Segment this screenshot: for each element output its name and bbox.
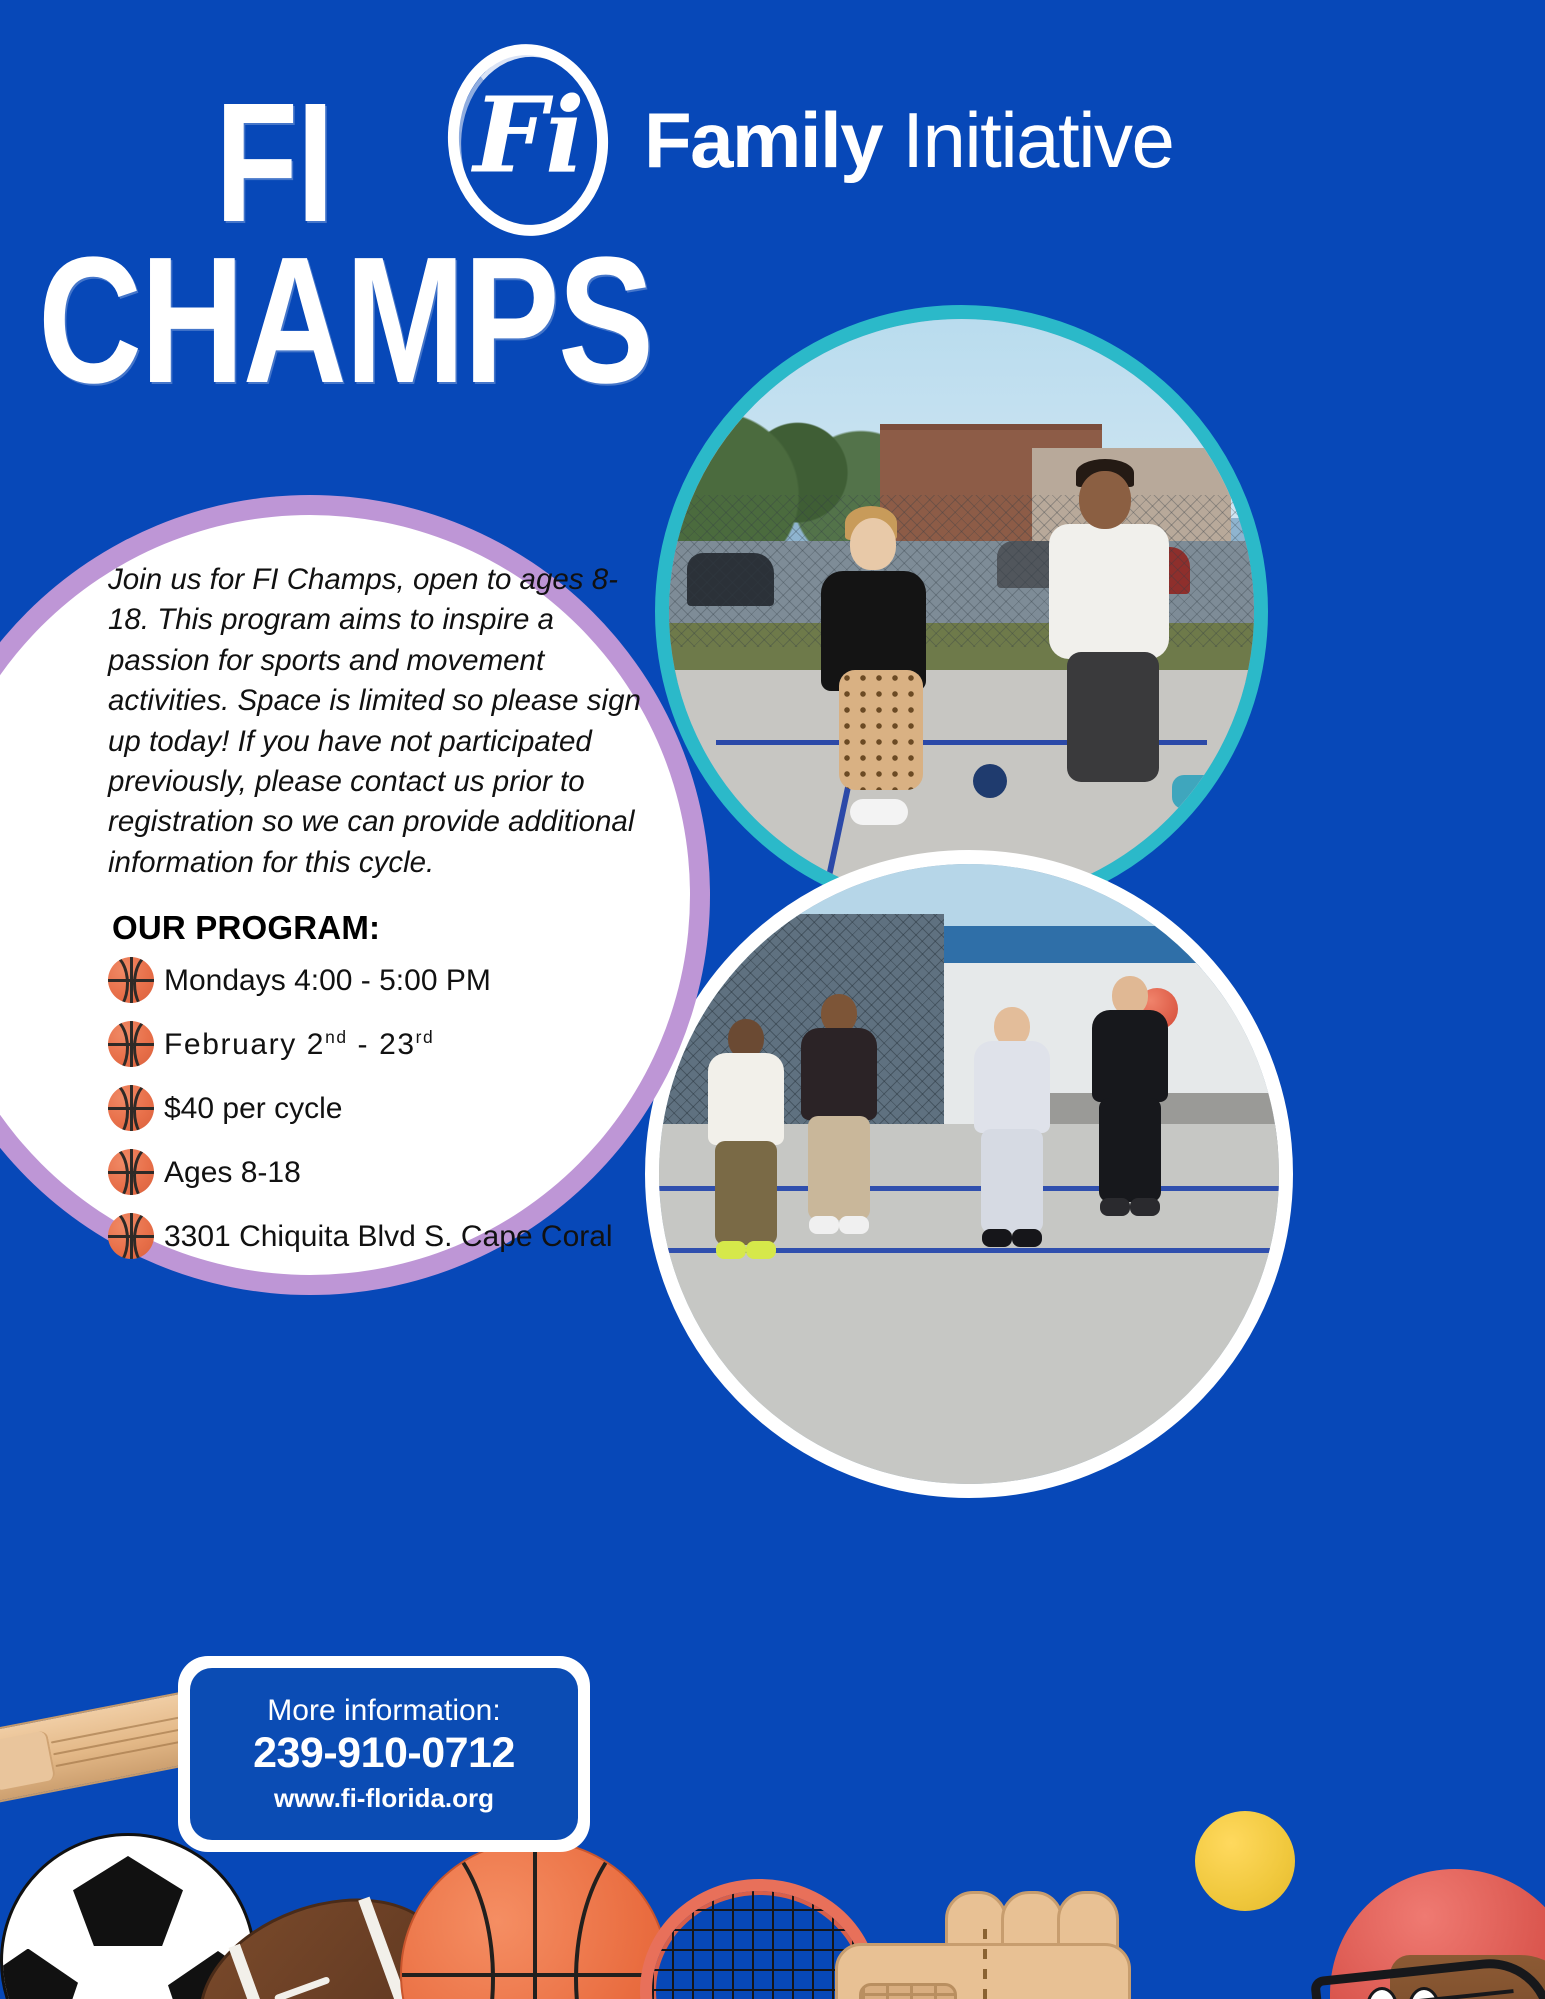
photo-person-legs xyxy=(1099,1098,1161,1202)
brand-wordmark-light: Initiative xyxy=(882,96,1173,184)
contact-website[interactable]: www.fi-florida.org xyxy=(274,1783,494,1814)
photo-person-legs xyxy=(808,1116,870,1220)
photo-person-legs xyxy=(839,670,923,790)
contact-phone[interactable]: 239-910-0712 xyxy=(253,1730,515,1777)
contact-more-label: More information: xyxy=(267,1694,500,1727)
list-item-label: Ages 8-18 xyxy=(164,1157,301,1189)
photo-ball xyxy=(973,764,1007,798)
flyer-page: Fi Family Initiative FI CHAMPS xyxy=(0,0,1545,1999)
program-heading: OUR PROGRAM: xyxy=(112,909,648,947)
list-item: 3301 Chiquita Blvd S. Cape Coral xyxy=(108,1213,648,1259)
photo-person-head xyxy=(850,518,896,570)
baseball-glove-icon xyxy=(835,1889,1125,1999)
photo-person-shoe xyxy=(809,1216,839,1234)
photo-bottom-group-activity xyxy=(645,850,1293,1498)
photo-person-torso xyxy=(801,1028,877,1120)
content-body: Join us for FI Champs, open to ages 8-18… xyxy=(108,560,648,1277)
photo-person-shoe xyxy=(716,1241,746,1259)
photo-person-torso xyxy=(1092,1010,1168,1102)
photo-person-shoe xyxy=(1100,1198,1130,1216)
page-title-line-2: CHAMPS xyxy=(38,249,480,393)
basketball-icon xyxy=(108,957,154,1003)
tennis-ball-icon xyxy=(1195,1811,1295,1911)
list-item: Mondays 4:00 - 5:00 PM xyxy=(108,957,648,1003)
list-item-label: Mondays 4:00 - 5:00 PM xyxy=(164,965,491,997)
brand-wordmark-bold: Family xyxy=(644,96,882,184)
list-item-label: $40 per cycle xyxy=(164,1093,342,1125)
photo-person-shoe xyxy=(746,1241,776,1259)
list-item: February 2nd - 23rd xyxy=(108,1021,648,1067)
basketball-icon xyxy=(108,1021,154,1067)
photo-bottom-content xyxy=(659,864,1279,1484)
photo-person-legs xyxy=(981,1129,1043,1233)
football-icon xyxy=(174,1866,471,1999)
photo-person-head xyxy=(1079,471,1131,529)
photo-person-shoe xyxy=(1012,1229,1042,1247)
photo-person-legs xyxy=(715,1141,777,1245)
list-item-label: 3301 Chiquita Blvd S. Cape Coral xyxy=(164,1221,613,1253)
contact-box[interactable]: More information: 239-910-0712 www.fi-fl… xyxy=(190,1668,578,1840)
basketball-icon xyxy=(108,1213,154,1259)
list-item-label: February 2nd - 23rd xyxy=(164,1028,434,1061)
brand-wordmark: Family Initiative xyxy=(644,101,1173,179)
photo-person-shoe xyxy=(982,1229,1012,1247)
program-list: Mondays 4:00 - 5:00 PM February 2nd - 23… xyxy=(108,957,648,1259)
soccer-ball-icon xyxy=(0,1833,256,1999)
basketball-icon xyxy=(108,1149,154,1195)
list-item: $40 per cycle xyxy=(108,1085,648,1131)
photo-person-torso xyxy=(708,1053,784,1145)
list-item: Ages 8-18 xyxy=(108,1149,648,1195)
photo-person-legs xyxy=(1067,652,1159,782)
page-title: FI CHAMPS xyxy=(30,95,590,393)
photo-person-shoe xyxy=(1172,775,1226,809)
basketball-icon xyxy=(108,1085,154,1131)
photo-person-shoe xyxy=(850,799,908,825)
photo-top-court-activity xyxy=(655,305,1268,918)
photo-person-torso xyxy=(1049,524,1169,659)
basketball-icon xyxy=(400,1840,669,1999)
photo-top-content xyxy=(669,319,1254,904)
tennis-racket-icon xyxy=(640,1879,855,1999)
photo-person-torso xyxy=(974,1041,1050,1133)
page-title-line-1: FI xyxy=(215,95,515,231)
intro-paragraph: Join us for FI Champs, open to ages 8-18… xyxy=(108,560,648,883)
photo-person-shoe xyxy=(839,1216,869,1234)
photo-person-shoe xyxy=(1130,1198,1160,1216)
football-helmet-icon xyxy=(1330,1869,1545,1999)
